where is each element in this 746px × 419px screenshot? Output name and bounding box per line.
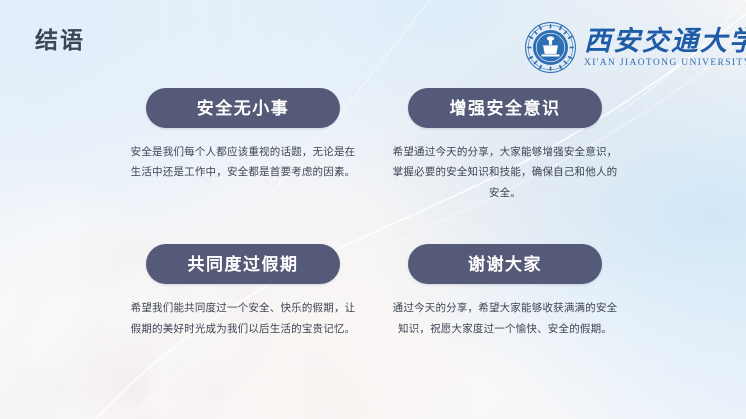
card-heading-label: 安全无小事 <box>197 100 290 117</box>
summary-card: 谢谢大家 通过今天的分享，希望大家能够收获满满的安全知识，祝愿大家度过一个愉快、… <box>390 244 620 339</box>
summary-cards-grid: 安全无小事 安全是我们每个人都应该重视的话题，无论是在生活中还是工作中，安全都是… <box>128 88 620 339</box>
card-heading-pill: 增强安全意识 <box>408 88 602 128</box>
logo-name-cn: 西安交通大学 <box>584 27 746 55</box>
logo-wordmark: 西安交通大学 XI'AN JIAOTONG UNIVERSITY <box>584 26 746 69</box>
summary-card: 增强安全意识 希望通过今天的分享，大家能够增强安全意识，掌握必要的安全知识和技能… <box>390 88 620 203</box>
card-body-text: 希望我们能共同度过一个安全、快乐的假期，让假期的美好时光成为我们以后生活的宝贵记… <box>128 298 358 339</box>
card-heading-pill: 安全无小事 <box>146 88 340 128</box>
card-heading-pill: 谢谢大家 <box>408 244 602 284</box>
card-body-text: 通过今天的分享，希望大家能够收获满满的安全知识，祝愿大家度过一个愉快、安全的假期… <box>390 298 620 339</box>
summary-card: 共同度过假期 希望我们能共同度过一个安全、快乐的假期，让假期的美好时光成为我们以… <box>128 244 358 339</box>
card-heading-label: 谢谢大家 <box>468 256 542 273</box>
summary-card: 安全无小事 安全是我们每个人都应该重视的话题，无论是在生活中还是工作中，安全都是… <box>128 88 358 203</box>
card-body-text: 希望通过今天的分享，大家能够增强安全意识，掌握必要的安全知识和技能，确保自己和他… <box>390 142 620 203</box>
presentation-slide: 结语 1896 <box>0 0 746 419</box>
svg-text:1896: 1896 <box>547 57 555 61</box>
university-seal-icon: 1896 <box>524 21 577 74</box>
page-title: 结语 <box>35 29 85 52</box>
card-body-text: 安全是我们每个人都应该重视的话题，无论是在生活中还是工作中，安全都是首要考虑的因… <box>128 142 358 183</box>
university-logo: 1896 西安交通大学 XI'AN JIAOTONG UNIVERSITY <box>524 21 746 74</box>
card-heading-label: 增强安全意识 <box>450 100 561 117</box>
logo-name-en: XI'AN JIAOTONG UNIVERSITY <box>584 57 746 69</box>
card-heading-pill: 共同度过假期 <box>146 244 340 284</box>
card-heading-label: 共同度过假期 <box>188 256 299 273</box>
